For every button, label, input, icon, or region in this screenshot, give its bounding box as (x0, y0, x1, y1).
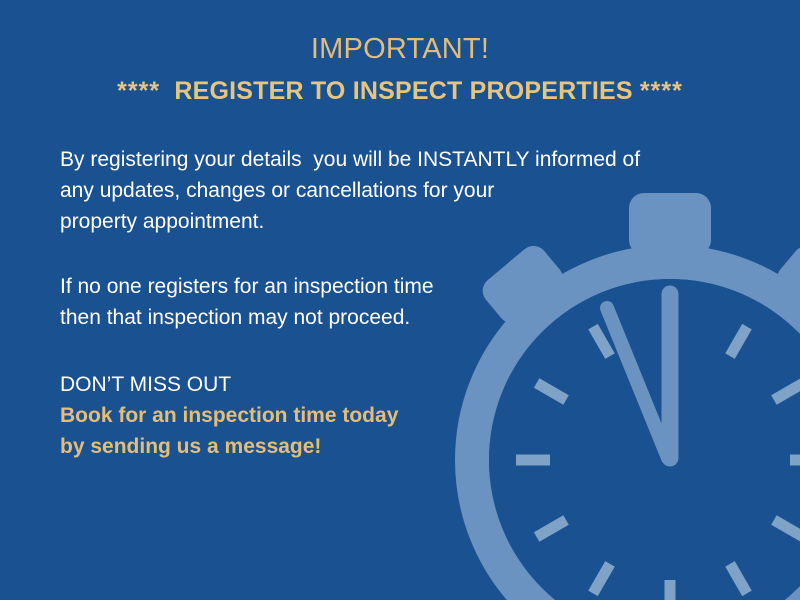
cta-dont-miss-out: DON’T MISS OUT (60, 369, 740, 400)
stars-left: **** (117, 77, 160, 105)
cta-send-message: by sending us a message! (60, 431, 740, 462)
headline-register-text: REGISTER TO INSPECT PROPERTIES (174, 77, 632, 105)
headline-register: **** REGISTER TO INSPECT PROPERTIES **** (0, 73, 800, 109)
paragraph-warning-line-2: then that inspection may not proceed. (60, 302, 740, 333)
slide-canvas: IMPORTANT! **** REGISTER TO INSPECT PROP… (0, 0, 800, 600)
paragraph-benefits: By registering your details you will be … (60, 144, 740, 237)
body-block: By registering your details you will be … (60, 144, 740, 462)
headline-block: IMPORTANT! **** REGISTER TO INSPECT PROP… (0, 30, 800, 109)
paragraph-warning-line-1: If no one registers for an inspection ti… (60, 271, 740, 302)
paragraph-warning: If no one registers for an inspection ti… (60, 271, 740, 333)
call-to-action-block: DON’T MISS OUT Book for an inspection ti… (60, 369, 740, 462)
paragraph-benefits-line-1: By registering your details you will be … (60, 144, 740, 175)
slide-content: IMPORTANT! **** REGISTER TO INSPECT PROP… (0, 0, 800, 600)
cta-book-inspection: Book for an inspection time today (60, 400, 740, 431)
stars-right: **** (640, 77, 683, 105)
headline-important: IMPORTANT! (0, 30, 800, 68)
paragraph-benefits-line-3: property appointment. (60, 206, 740, 237)
paragraph-benefits-line-2: any updates, changes or cancellations fo… (60, 175, 740, 206)
paragraph-spacer-2 (60, 333, 740, 369)
paragraph-spacer-1 (60, 237, 740, 271)
